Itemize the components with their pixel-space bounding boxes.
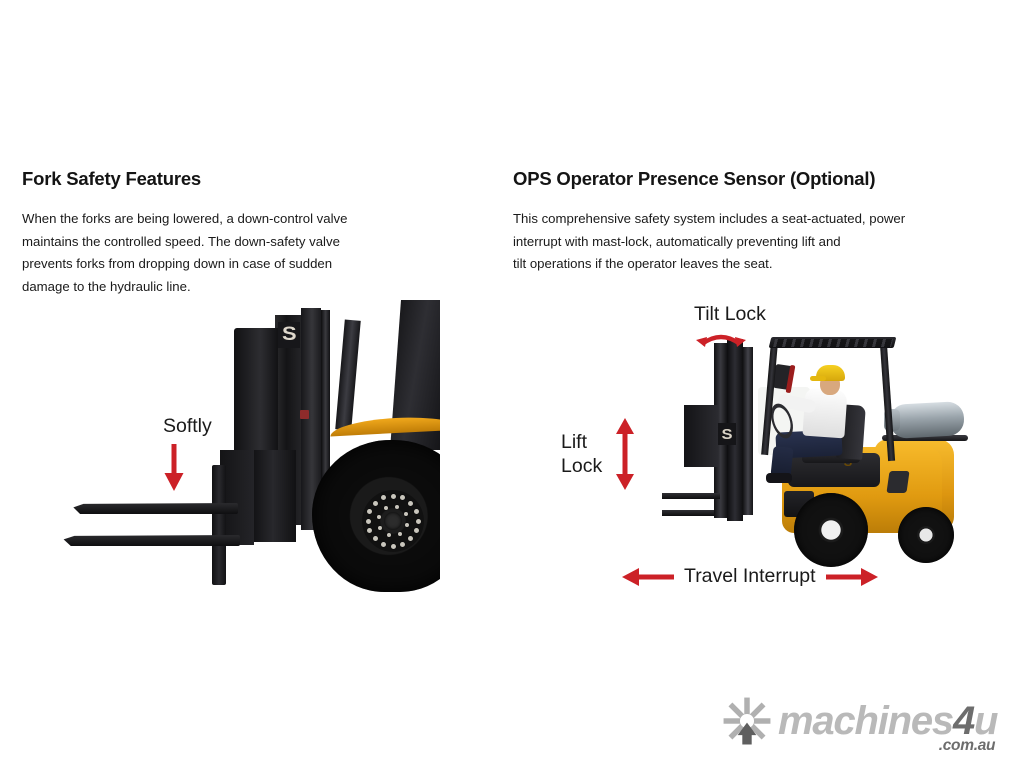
mast-brand-letter: S — [721, 426, 732, 443]
down-arrow-icon — [163, 444, 185, 492]
mast-brand-badge: S — [278, 322, 300, 348]
annotation-travel-interrupt: Travel Interrupt — [622, 565, 878, 588]
paragraph-line: damage to the hydraulic line. — [22, 276, 452, 299]
page-title-fork-safety: Fork Safety Features — [22, 168, 452, 190]
fork-tine-upper — [662, 493, 720, 499]
paragraph-line: This comprehensive safety system include… — [513, 208, 983, 231]
annotation-lift-lock-labels: Lift Lock — [561, 430, 602, 478]
lpg-tank — [889, 401, 965, 439]
asterisk-star-icon — [722, 696, 772, 746]
annotation-tilt-lock-label: Tilt Lock — [694, 303, 791, 326]
tilt-cylinder — [335, 320, 361, 431]
overhead-guard-slats — [773, 339, 893, 347]
forklift-mast-photo: S — [60, 300, 440, 595]
watermark-domain: .com.au — [939, 737, 995, 755]
annotation-tilt-lock: Tilt Lock — [694, 303, 791, 348]
left-arrow-icon — [622, 567, 674, 587]
page-canvas: Fork Safety Features When the forks are … — [0, 0, 1024, 768]
body-vent — [886, 471, 909, 493]
fork-tine-lower — [662, 510, 714, 516]
hydraulic-marker — [300, 410, 309, 419]
rear-steer-wheel — [898, 507, 954, 563]
paragraph-line: prevents forks from dropping down in cas… — [22, 253, 452, 276]
fork-carriage — [234, 328, 278, 463]
fork-carriage-lower — [250, 450, 296, 542]
up-down-double-arrow-icon — [614, 418, 636, 490]
section-fork-safety: Fork Safety Features When the forks are … — [22, 168, 452, 298]
annotation-lift-lock-label-line2: Lock — [561, 454, 602, 478]
hard-hat-icon — [816, 365, 845, 381]
operator-boot — [766, 473, 792, 483]
mast-brand-badge: S — [718, 423, 736, 445]
watermark-wordmark: machines4u — [778, 701, 997, 741]
operator-torso — [802, 388, 847, 439]
section-ops-sensor: OPS Operator Presence Sensor (Optional) … — [513, 168, 983, 276]
mast-brand-letter: S — [282, 324, 297, 346]
paragraph-line: When the forks are being lowered, a down… — [22, 208, 452, 231]
front-drive-wheel — [794, 493, 868, 567]
annotation-travel-interrupt-label: Travel Interrupt — [684, 565, 816, 588]
right-arrow-icon — [826, 567, 878, 587]
mast-rail-inner — [743, 347, 753, 515]
fork-tine-upper — [70, 503, 238, 514]
forklift-operator-photo: S S — [662, 335, 992, 570]
fork-carriage — [684, 405, 718, 467]
paragraph-line: maintains the controlled speed. The down… — [22, 231, 452, 254]
annotation-softly-label: Softly — [163, 415, 229, 438]
annotation-lift-lock-label-line1: Lift — [561, 430, 602, 454]
curved-double-arrow-icon — [694, 328, 748, 348]
annotation-softly: Softly — [163, 415, 229, 492]
page-title-ops-sensor: OPS Operator Presence Sensor (Optional) — [513, 168, 983, 190]
wheel-studs — [362, 490, 424, 552]
paragraph-ops-sensor: This comprehensive safety system include… — [513, 208, 983, 276]
watermark-machines4u: machines4u .com.au — [722, 696, 1012, 758]
paragraph-line: tilt operations if the operator leaves t… — [513, 253, 983, 276]
fork-tine-lower — [60, 535, 240, 546]
watermark-name-part-1: machines — [778, 699, 953, 743]
annotation-lift-lock: Lift Lock — [561, 418, 636, 490]
paragraph-fork-safety: When the forks are being lowered, a down… — [22, 208, 452, 298]
paragraph-line: interrupt with mast-lock, automatically … — [513, 231, 983, 254]
